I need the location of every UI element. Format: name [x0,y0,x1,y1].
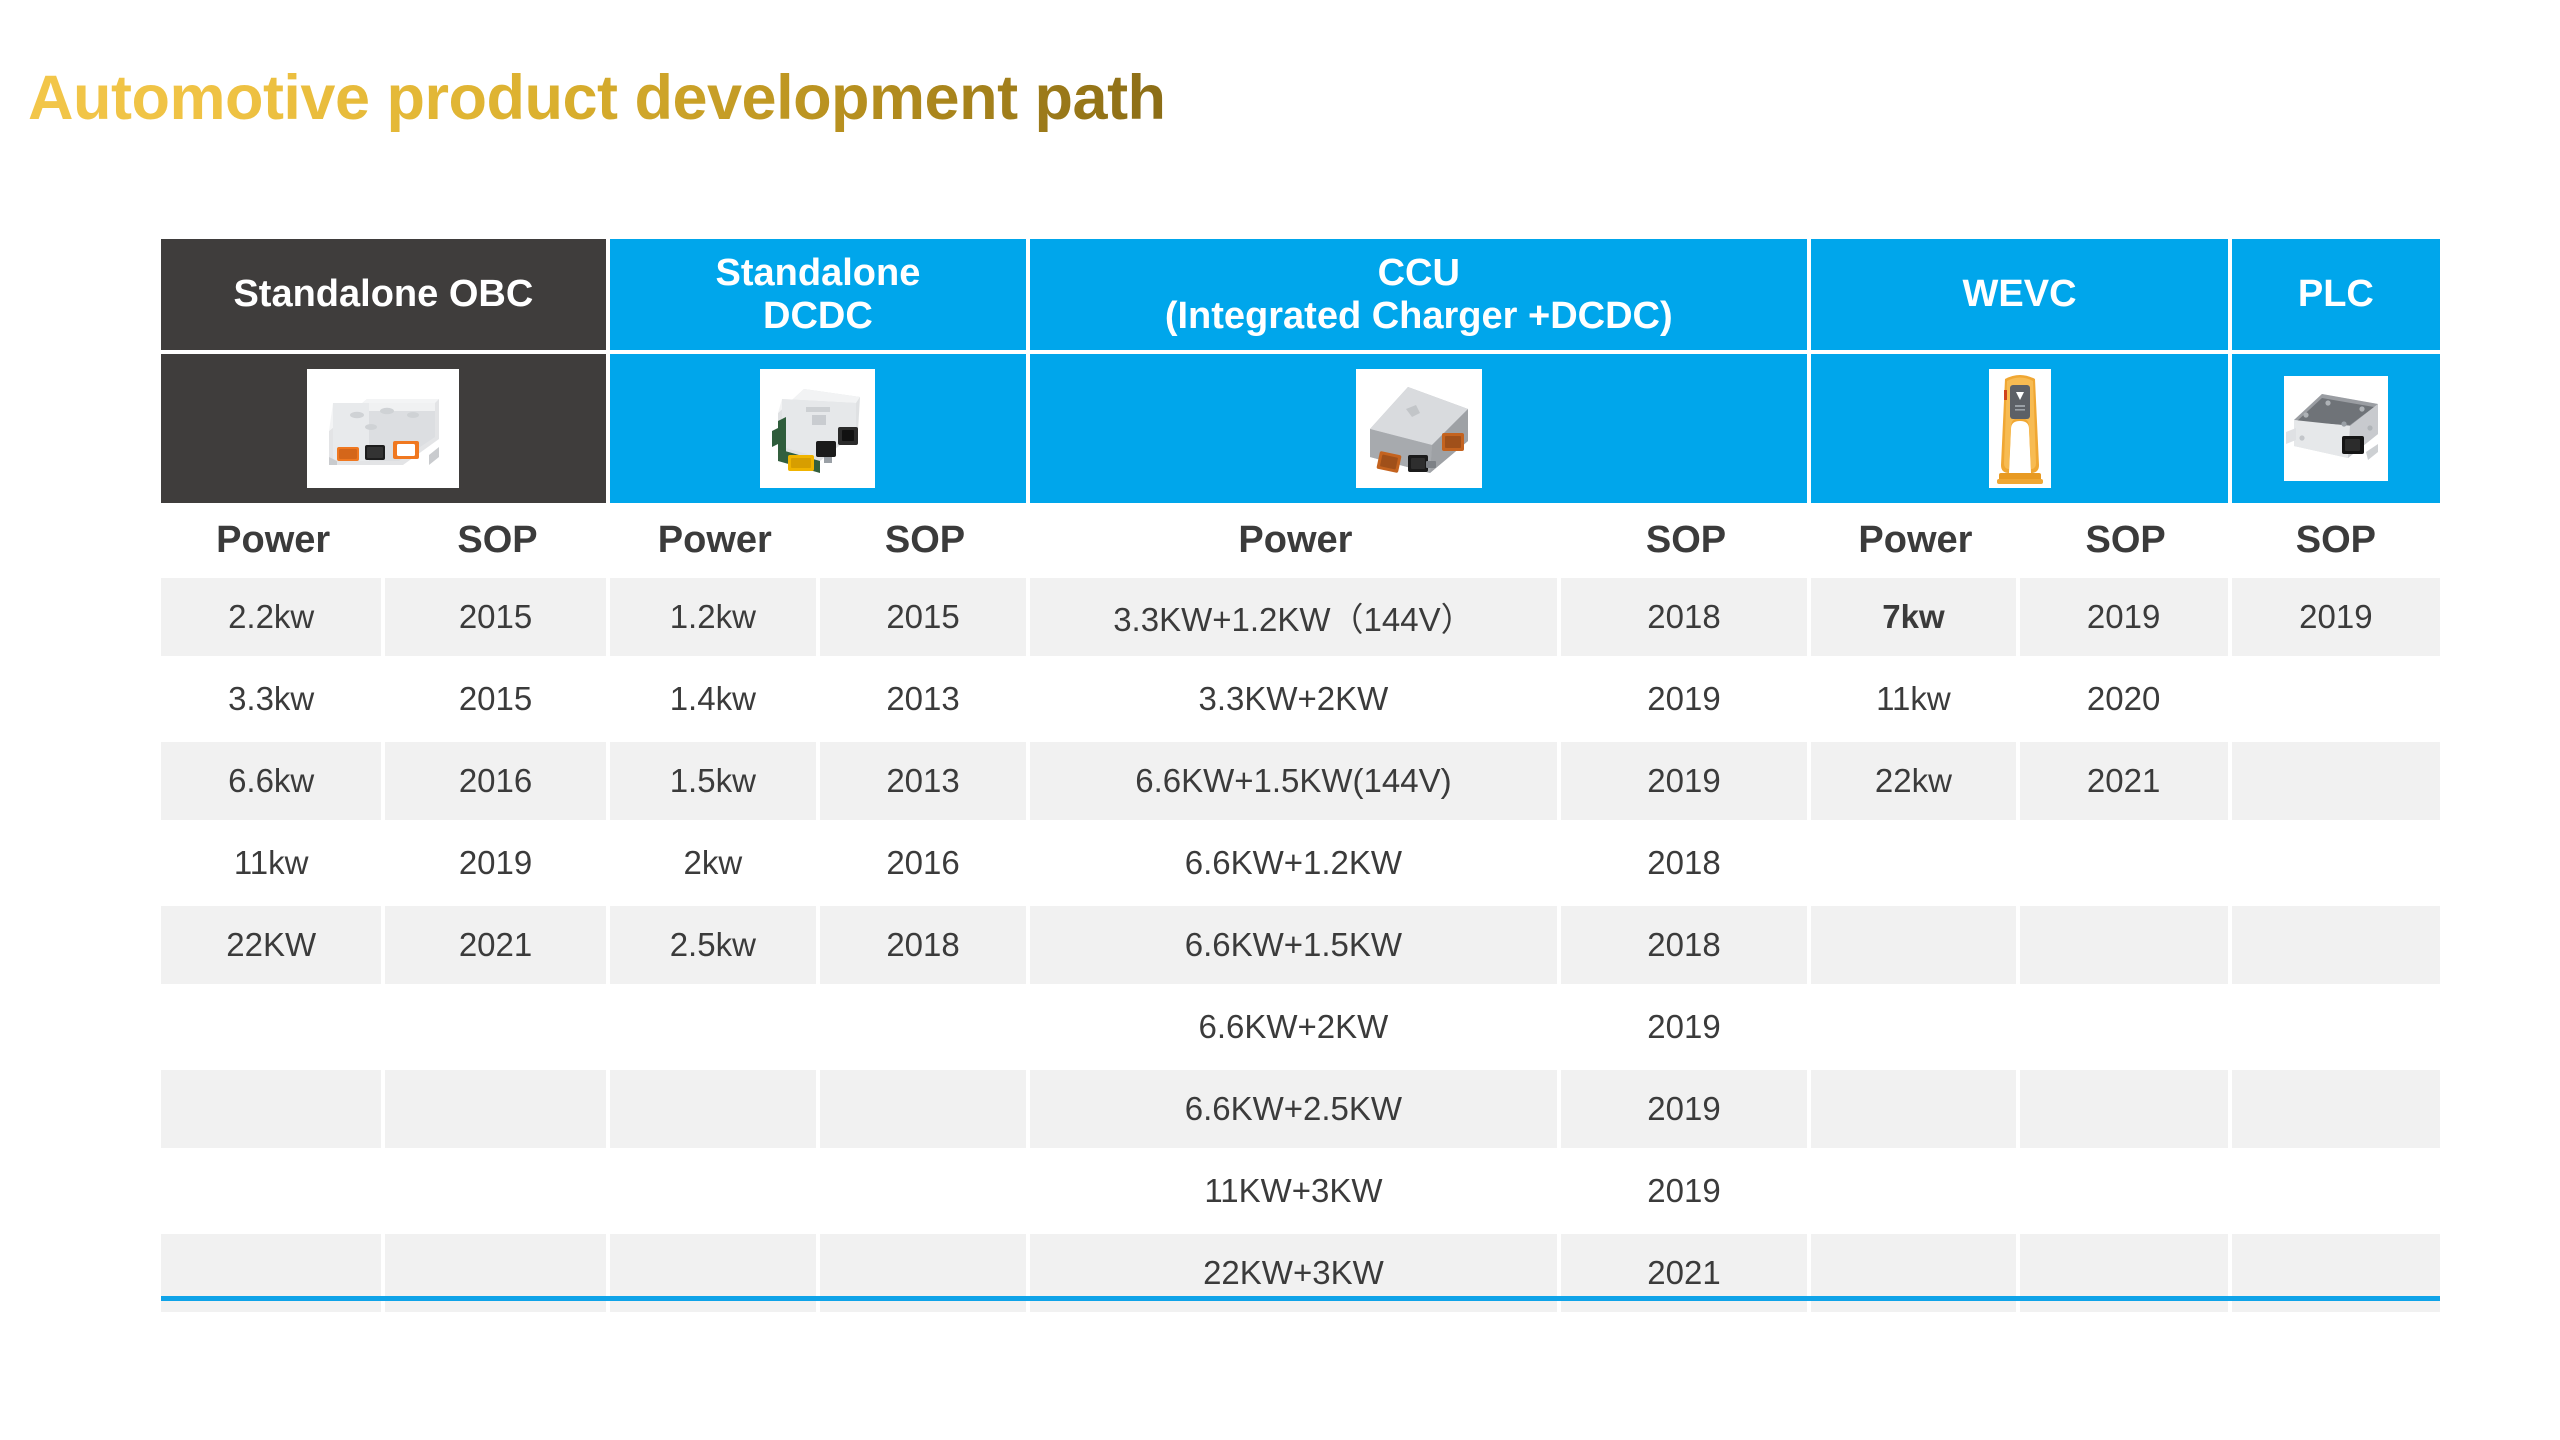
table-cell: 3.3KW+1.2KW（144V） [1030,578,1561,660]
table-cell: 3.3KW+2KW [1030,660,1561,742]
table-underline [161,1296,2440,1301]
table-cell [385,1070,609,1152]
table-cell: 2020 [2020,660,2232,742]
product-image-row [161,350,2440,503]
table-cell [2232,742,2440,824]
group-header-obc-label: Standalone OBC [233,273,533,315]
table-cell: 2018 [820,906,1030,988]
wevc-photo [1989,369,2051,488]
table-cell: 3.3kw [161,660,385,742]
table-cell: 2015 [385,660,609,742]
table-cell: 2019 [385,824,609,906]
table-row: 2.2kw20151.2kw20153.3KW+1.2KW（144V）20187… [161,578,2440,660]
table-cell [820,1152,1030,1234]
table-cell: 2015 [385,578,609,660]
group-header-ccu: CCU (Integrated Charger +DCDC) [1030,239,1811,350]
sub-header-wevc-power: Power [1811,503,2019,578]
table-cell: 2018 [1561,824,1812,906]
table-cell [2020,906,2232,988]
product-image-cell-ccu [1030,350,1811,503]
group-header-dcdc-line1: Standalone [716,252,921,294]
table-cell: 2016 [385,742,609,824]
table-row: 11kw20192kw20166.6KW+1.2KW2018 [161,824,2440,906]
table-cell [161,1152,385,1234]
product-image-cell-plc [2232,350,2440,503]
table-cell [2020,988,2232,1070]
table-cell: 22KW [161,906,385,988]
product-image-cell-dcdc [610,350,1030,503]
table-cell: 6.6KW+1.5KW(144V) [1030,742,1561,824]
table-cell: 2015 [820,578,1030,660]
group-header-plc-label: PLC [2298,273,2374,315]
product-image-cell-obc [161,350,610,503]
table-cell: 2kw [610,824,820,906]
table-cell [385,1152,609,1234]
table-cell [820,988,1030,1070]
group-header-wevc: WEVC [1811,239,2231,350]
table-cell [1811,906,2019,988]
table-cell [2020,1070,2232,1152]
table-cell: 2016 [820,824,1030,906]
sub-header-ccu-power: Power [1030,503,1561,578]
table-cell: 2021 [2020,742,2232,824]
table-cell [385,988,609,1070]
table-cell [820,1070,1030,1152]
table-row: 3.3kw20151.4kw20133.3KW+2KW201911kw2020 [161,660,2440,742]
sub-header-row: Power SOP Power SOP Power SOP Power SOP … [161,503,2440,578]
table-cell [1811,1152,2019,1234]
table-cell: 2021 [385,906,609,988]
group-header-obc: Standalone OBC [161,239,610,350]
table-cell: 11kw [161,824,385,906]
table-cell: 2.2kw [161,578,385,660]
table-cell [2020,1152,2232,1234]
table-cell [2232,906,2440,988]
table-cell: 2019 [1561,1152,1812,1234]
table-row: 11KW+3KW2019 [161,1152,2440,1234]
table-cell: 2019 [1561,660,1812,742]
ccu-photo [1356,369,1482,488]
table-cell: 2019 [2232,578,2440,660]
table-cell: 6.6KW+1.2KW [1030,824,1561,906]
table-row: 6.6KW+2KW2019 [161,988,2440,1070]
table-cell: 6.6KW+2KW [1030,988,1561,1070]
table-body: 2.2kw20151.2kw20153.3KW+1.2KW（144V）20187… [161,578,2440,1312]
table-cell [1811,824,2019,906]
table-row: 22KW20212.5kw20186.6KW+1.5KW2018 [161,906,2440,988]
product-development-table: Standalone OBC Standalone DCDC CCU (Inte… [161,239,2440,1312]
table-cell: 2013 [820,742,1030,824]
page-title: Automotive product development path [28,62,1166,134]
sub-header-dcdc-sop: SOP [820,503,1030,578]
table-cell [610,988,820,1070]
table-cell [610,1152,820,1234]
table-cell: 2019 [2020,578,2232,660]
table-cell: 7kw [1811,578,2019,660]
table-cell: 2018 [1561,578,1812,660]
table-cell [1811,1070,2019,1152]
group-header-row: Standalone OBC Standalone DCDC CCU (Inte… [161,239,2440,350]
table-cell: 11KW+3KW [1030,1152,1561,1234]
table-cell: 6.6KW+2.5KW [1030,1070,1561,1152]
obc-photo [307,369,459,488]
group-header-dcdc: Standalone DCDC [610,239,1030,350]
plc-photo [2284,376,2388,481]
table-cell [161,988,385,1070]
sub-header-obc-power: Power [161,503,385,578]
table-cell: 6.6kw [161,742,385,824]
dcdc-photo [760,369,875,488]
group-header-dcdc-line2: DCDC [763,295,873,337]
table-cell: 2019 [1561,742,1812,824]
sub-header-obc-sop: SOP [385,503,609,578]
sub-header-wevc-sop: SOP [2020,503,2232,578]
group-header-ccu-line1: CCU [1378,252,1460,294]
table-cell: 2019 [1561,988,1812,1070]
table-cell: 2013 [820,660,1030,742]
table-cell: 22kw [1811,742,2019,824]
table-cell: 1.5kw [610,742,820,824]
table-row: 6.6KW+2.5KW2019 [161,1070,2440,1152]
group-header-plc: PLC [2232,239,2440,350]
table-cell: 2019 [1561,1070,1812,1152]
sub-header-plc-sop: SOP [2232,503,2440,578]
table-cell [161,1070,385,1152]
table-cell [2232,660,2440,742]
group-header-wevc-label: WEVC [1963,273,2077,315]
table-cell [2232,1070,2440,1152]
table-row: 6.6kw20161.5kw20136.6KW+1.5KW(144V)20192… [161,742,2440,824]
group-header-ccu-line2: (Integrated Charger +DCDC) [1165,295,1673,337]
table-cell: 2018 [1561,906,1812,988]
sub-header-ccu-sop: SOP [1561,503,1812,578]
table-cell [2232,824,2440,906]
table-cell: 6.6KW+1.5KW [1030,906,1561,988]
product-image-cell-wevc [1811,350,2231,503]
table-cell: 2.5kw [610,906,820,988]
table-cell: 1.2kw [610,578,820,660]
table-cell [2020,824,2232,906]
table-cell [2232,988,2440,1070]
sub-header-dcdc-power: Power [610,503,820,578]
table-cell [610,1070,820,1152]
table-cell [1811,988,2019,1070]
table-cell: 11kw [1811,660,2019,742]
table-cell: 1.4kw [610,660,820,742]
table-cell [2232,1152,2440,1234]
